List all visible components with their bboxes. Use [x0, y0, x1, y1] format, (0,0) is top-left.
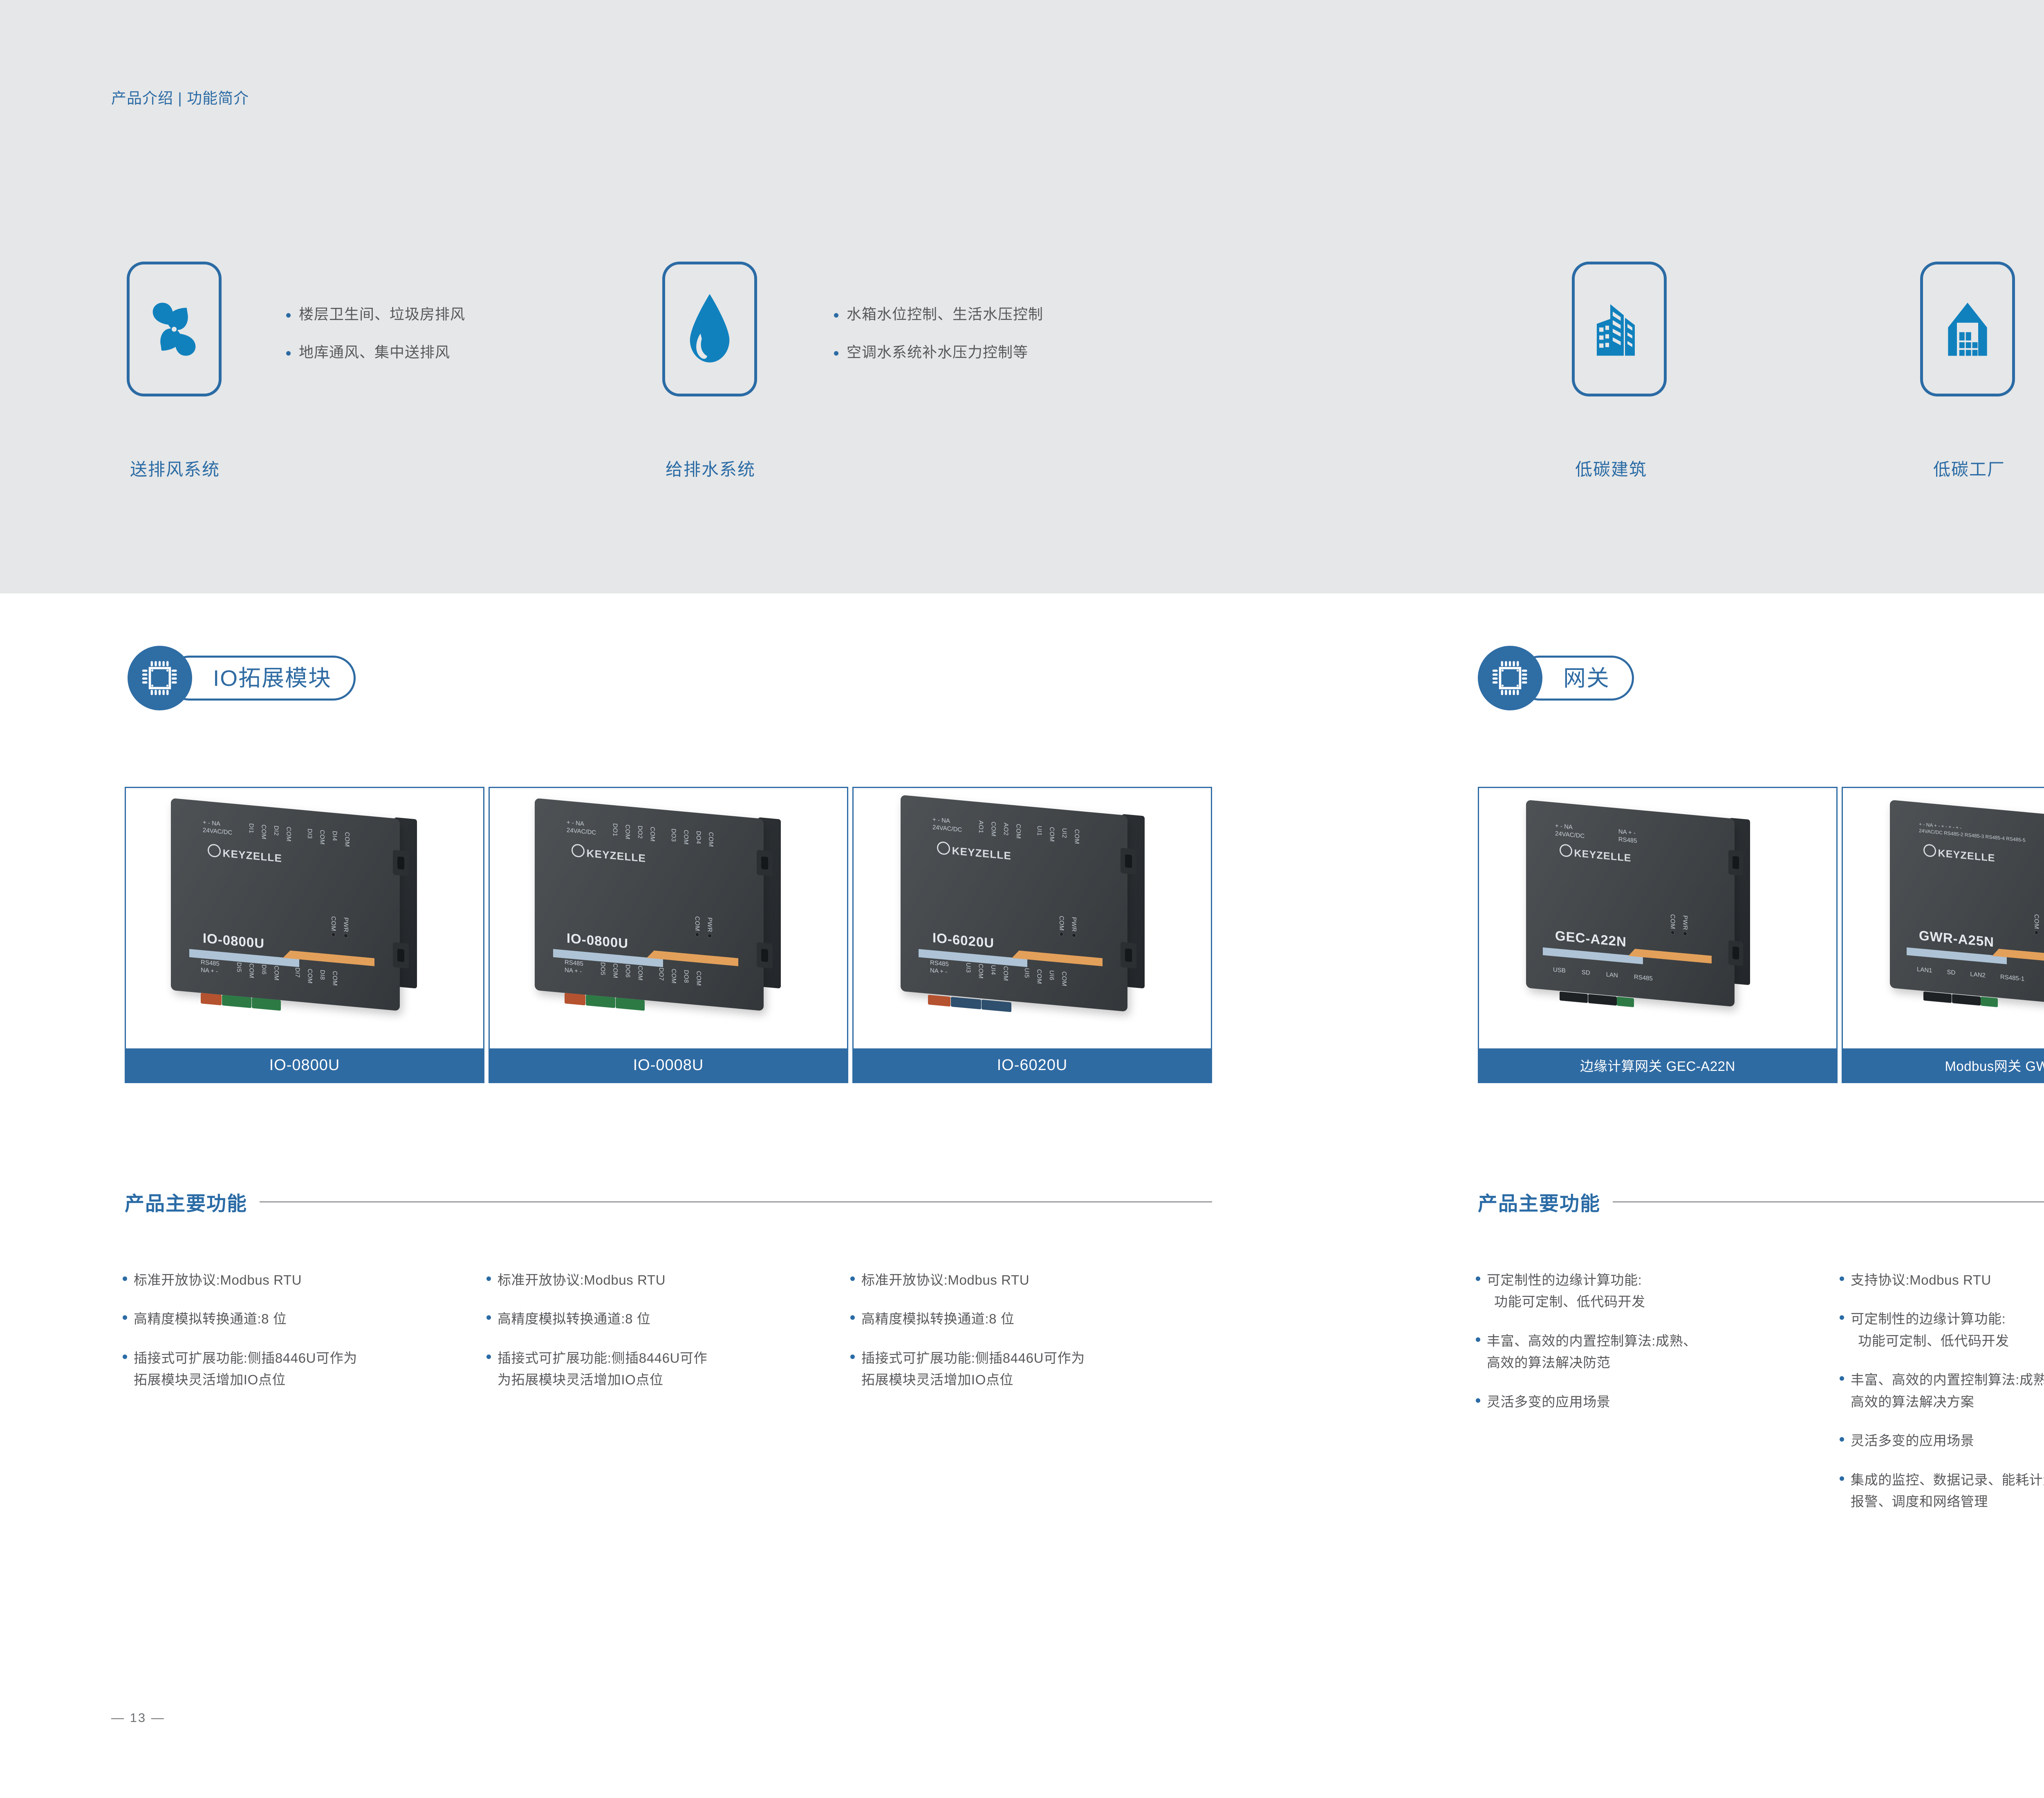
- section-badge-bar-io: IO拓展模块: [167, 656, 356, 701]
- list-item: 插接式可扩展功能:侧插8446U可作为拓展模块灵活增加IO点位: [123, 1347, 482, 1391]
- list-item: 可定制性的边缘计算功能:功能可定制、低代码开发: [1476, 1269, 1836, 1313]
- tile-label-water: 给排水系统: [666, 456, 755, 481]
- list-item: 支持协议:Modbus RTU: [1840, 1269, 2044, 1291]
- list-item: 楼层卫生间、垃圾房排风: [286, 305, 465, 323]
- device-illustration: + - NA 24VAC/DC NA + - RS485 KEYZELLE CO…: [1526, 809, 1735, 997]
- brand-mark-icon: [937, 841, 950, 855]
- list-item: 插接式可扩展功能:侧插8446U可作为拓展模块灵活增加IO点位: [850, 1347, 1210, 1391]
- bullet-dot-icon: [1840, 1437, 1844, 1442]
- factory-icon: [1941, 298, 1994, 361]
- list-item: 灵活多变的应用场景: [1840, 1430, 2044, 1451]
- product-image-gec-a22n: + - NA 24VAC/DC NA + - RS485 KEYZELLE CO…: [1479, 788, 1836, 1048]
- list-item: 高精度模拟转换通道:8 位: [486, 1308, 846, 1330]
- device-status-leds: COM PWR: [2033, 914, 2044, 936]
- bullet-dot-icon: [1840, 1476, 1844, 1481]
- led-indicator-icon: [695, 933, 699, 937]
- product-card-io-0008u[interactable]: + - NA 24VAC/DC DO1 COM DO2 COM DO3 COM …: [489, 787, 848, 1083]
- product-caption: 边缘计算网关 GEC-A22N: [1479, 1048, 1836, 1082]
- device-illustration: + - NA + - + - + - + - 24VAC/DC RS485-2 …: [1890, 809, 2044, 997]
- list-item: 集成的监控、数据记录、能耗计量、报警、调度和网络管理: [1840, 1469, 2044, 1513]
- product-image-io-0800u: + - NA 24VAC/DC DI1 COM DI2 COM DI3 COM …: [126, 788, 483, 1048]
- product-image-gwr-a25n: + - NA + - + - + - + - 24VAC/DC RS485-2 …: [1843, 788, 2044, 1048]
- led-indicator-icon: [332, 933, 336, 937]
- chip-glyph-icon: [140, 658, 179, 698]
- list-item: 水箱水位控制、生活水压控制: [834, 305, 1043, 323]
- bullet-dot-icon: [1476, 1276, 1480, 1281]
- running-header-left: 产品介绍 | 功能简介: [111, 86, 249, 108]
- bullet-dot-icon: [123, 1315, 127, 1320]
- application-tile-ventilation[interactable]: [127, 262, 222, 396]
- bullet-dot-icon: [1840, 1315, 1844, 1320]
- bullet-dot-icon: [850, 1276, 855, 1281]
- bullet-dot-icon: [486, 1315, 491, 1320]
- led-indicator-icon: [1683, 932, 1688, 936]
- water-bullets: 水箱水位控制、生活水压控制 空调水系统补水压力控制等: [834, 311, 1043, 356]
- ventilation-bullets: 楼层卫生间、垃圾房排风 地库通风、集中送排风: [286, 311, 465, 356]
- product-caption: IO-0800U: [126, 1048, 483, 1082]
- list-item: 地库通风、集中送排风: [286, 343, 465, 361]
- mounting-tab: [757, 850, 773, 877]
- water-drop-icon: [683, 291, 736, 367]
- feature-column-gw-2: 支持协议:Modbus RTU 可定制性的边缘计算功能:功能可定制、低代码开发 …: [1840, 1269, 2044, 1530]
- bullet-dot-icon: [486, 1355, 491, 1359]
- product-card-io-6020u[interactable]: + - NA 24VAC/DC AO1 COM AO2 COM UI1 COM …: [852, 787, 1212, 1083]
- bullet-dot-icon: [286, 313, 291, 318]
- led-indicator-icon: [2035, 931, 2039, 935]
- list-item: 丰富、高效的内置控制算法:成熟、高效的算法解决防范: [1476, 1330, 1836, 1374]
- list-item: 灵活多变的应用场景: [1476, 1391, 1836, 1413]
- chip-icon: [128, 646, 192, 710]
- features-heading-right: 产品主要功能: [1478, 1187, 2044, 1216]
- bullet-dot-icon: [834, 313, 838, 318]
- list-item: 高精度模拟转换通道:8 位: [850, 1308, 1210, 1330]
- fan-icon: [143, 296, 205, 363]
- list-item: 标准开放协议:Modbus RTU: [486, 1269, 846, 1291]
- section-badge-io-modules[interactable]: IO拓展模块: [128, 646, 356, 710]
- led-indicator-icon: [1060, 932, 1064, 936]
- tile-label-ventilation: 送排风系统: [130, 456, 220, 481]
- list-item: 插接式可扩展功能:侧插8446U可作为拓展模块灵活增加IO点位: [486, 1347, 846, 1391]
- device-illustration: + - NA 24VAC/DC AO1 COM AO2 COM UI1 COM …: [901, 805, 1127, 1001]
- feature-column-gw-1: 可定制性的边缘计算功能:功能可定制、低代码开发 丰富、高效的内置控制算法:成熟、…: [1476, 1269, 1836, 1430]
- device-status-leds: COM PWR: [1669, 914, 1689, 936]
- heading-rule: [260, 1201, 1212, 1202]
- feature-column-3: 标准开放协议:Modbus RTU 高精度模拟转换通道:8 位 插接式可扩展功能…: [850, 1269, 1210, 1408]
- brand-mark-icon: [1923, 844, 1936, 858]
- mounting-tab: [1121, 942, 1136, 969]
- bullet-dot-icon: [850, 1315, 855, 1320]
- mounting-tab: [1728, 940, 1743, 966]
- product-caption: IO-0008U: [490, 1048, 847, 1082]
- list-item: 空调水系统补水压力控制等: [834, 343, 1043, 361]
- feature-column-2: 标准开放协议:Modbus RTU 高精度模拟转换通道:8 位 插接式可扩展功能…: [486, 1269, 846, 1408]
- scenario-tile-low-carbon-building[interactable]: [1572, 262, 1667, 396]
- top-grey-band: [0, 0, 2044, 593]
- bullet-dot-icon: [834, 351, 838, 356]
- list-item: 标准开放协议:Modbus RTU: [850, 1269, 1210, 1291]
- brochure-spread: 产品介绍 | 功能简介 产品介绍 | 功能简介 楼层卫生间、垃圾房排风 地库通风…: [0, 0, 2044, 1798]
- list-item: 标准开放协议:Modbus RTU: [123, 1269, 482, 1291]
- bullet-dot-icon: [850, 1355, 855, 1359]
- device-illustration: + - NA 24VAC/DC DO1 COM DO2 COM DO3 COM …: [535, 808, 764, 1001]
- brand-mark-icon: [208, 844, 221, 858]
- mounting-tab: [1121, 848, 1136, 875]
- bullet-dot-icon: [286, 351, 291, 356]
- bullet-dot-icon: [123, 1276, 127, 1281]
- brand-mark-icon: [572, 844, 585, 858]
- bullet-dot-icon: [1840, 1376, 1844, 1381]
- feature-column-1: 标准开放协议:Modbus RTU 高精度模拟转换通道:8 位 插接式可扩展功能…: [123, 1269, 482, 1408]
- product-image-io-6020u: + - NA 24VAC/DC AO1 COM AO2 COM UI1 COM …: [854, 788, 1211, 1048]
- product-card-gec-a22n[interactable]: + - NA 24VAC/DC NA + - RS485 KEYZELLE CO…: [1478, 787, 1838, 1083]
- heading-rule: [1613, 1201, 2044, 1202]
- product-card-gwr-a25n[interactable]: + - NA + - + - + - + - 24VAC/DC RS485-2 …: [1842, 787, 2044, 1083]
- list-item: 高精度模拟转换通道:8 位: [123, 1308, 482, 1330]
- bullet-dot-icon: [486, 1276, 491, 1281]
- brand-mark-icon: [1560, 844, 1572, 858]
- product-card-io-0800u[interactable]: + - NA 24VAC/DC DI1 COM DI2 COM DI3 COM …: [125, 787, 484, 1083]
- section-badge-gateway[interactable]: 网关: [1478, 646, 1634, 710]
- bullet-dot-icon: [123, 1355, 127, 1359]
- bullet-dot-icon: [1840, 1276, 1844, 1281]
- list-item: 丰富、高效的内置控制算法:成熟、高效的算法解决方案: [1840, 1369, 2044, 1413]
- chip-icon: [1478, 646, 1542, 710]
- led-indicator-icon: [1671, 931, 1675, 935]
- page-number-left: — 13 —: [111, 1711, 165, 1725]
- product-image-io-0008u: + - NA 24VAC/DC DO1 COM DO2 COM DO3 COM …: [490, 788, 847, 1048]
- mounting-tab: [757, 942, 773, 969]
- tile-label-low-carbon-building: 低碳建筑: [1575, 456, 1647, 481]
- scenario-tile-low-carbon-factory[interactable]: [1920, 262, 2015, 396]
- tile-label-low-carbon-factory: 低碳工厂: [1933, 456, 2005, 481]
- bullet-dot-icon: [1476, 1337, 1480, 1342]
- device-status-leds: COM PWR: [694, 916, 713, 938]
- bullet-dot-icon: [1476, 1398, 1480, 1403]
- device-status-leds: COM PWR: [330, 916, 350, 938]
- mounting-tab: [393, 850, 409, 877]
- led-indicator-icon: [708, 934, 712, 938]
- application-tile-water[interactable]: [662, 262, 757, 396]
- mounting-tab: [393, 942, 409, 969]
- product-caption: Modbus网关 GWR-A25N: [1843, 1048, 2044, 1082]
- features-heading-left: 产品主要功能: [125, 1187, 1212, 1216]
- device-illustration: + - NA 24VAC/DC DI1 COM DI2 COM DI3 COM …: [171, 808, 400, 1001]
- led-indicator-icon: [344, 934, 348, 938]
- led-indicator-icon: [1072, 933, 1076, 937]
- product-caption: IO-6020U: [854, 1048, 1211, 1082]
- list-item: 可定制性的边缘计算功能:功能可定制、低代码开发: [1840, 1308, 2044, 1352]
- chip-glyph-icon: [1490, 658, 1530, 698]
- mounting-tab: [1728, 850, 1743, 876]
- device-status-leds: COM PWR: [1058, 916, 1078, 938]
- office-building-icon: [1592, 296, 1647, 362]
